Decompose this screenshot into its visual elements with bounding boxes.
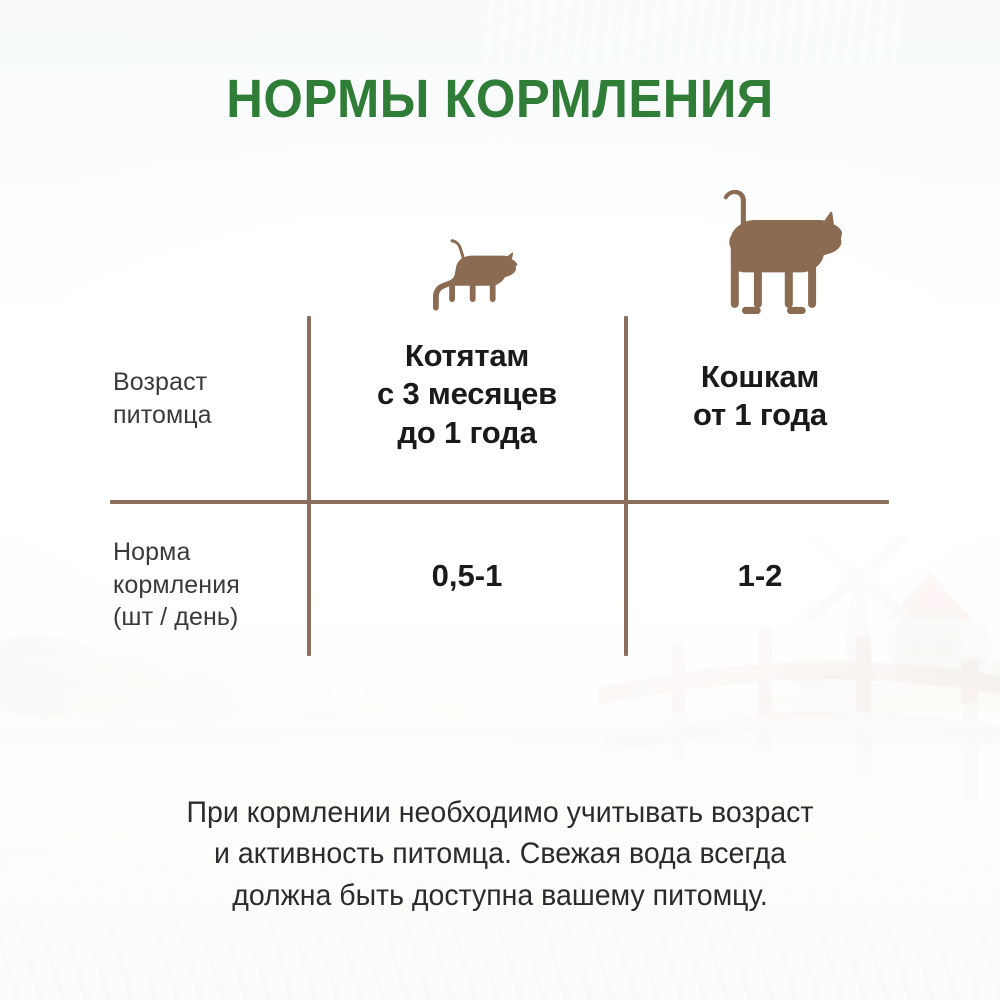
table-value-adult-portions: 1-2 — [629, 557, 891, 594]
adult-cat-silhouette-icon — [695, 190, 845, 314]
feeding-footnote: При кормлении необходимо учитывать возра… — [82, 792, 918, 916]
table-column-divider-1 — [307, 316, 311, 656]
table-column-divider-2 — [624, 316, 628, 656]
kitten-silhouette-icon — [425, 238, 525, 312]
table-row-label-age: Возраст питомца — [113, 366, 298, 431]
table-row-label-feeding-norm: Норма кормления (шт / день) — [113, 536, 298, 634]
page-title: НОРМЫ КОРМЛЕНИЯ — [30, 68, 970, 130]
feeding-guidelines-poster: НОРМЫ КОРМЛЕНИЯ Возраст питомца Котятам … — [0, 0, 1000, 1000]
table-value-kitten-portions: 0,5-1 — [312, 557, 622, 594]
table-header-adult-cat: Кошкам от 1 года — [629, 358, 891, 435]
table-header-kitten: Котятам с 3 месяцев до 1 года — [312, 337, 622, 452]
table-row-divider — [110, 500, 889, 504]
